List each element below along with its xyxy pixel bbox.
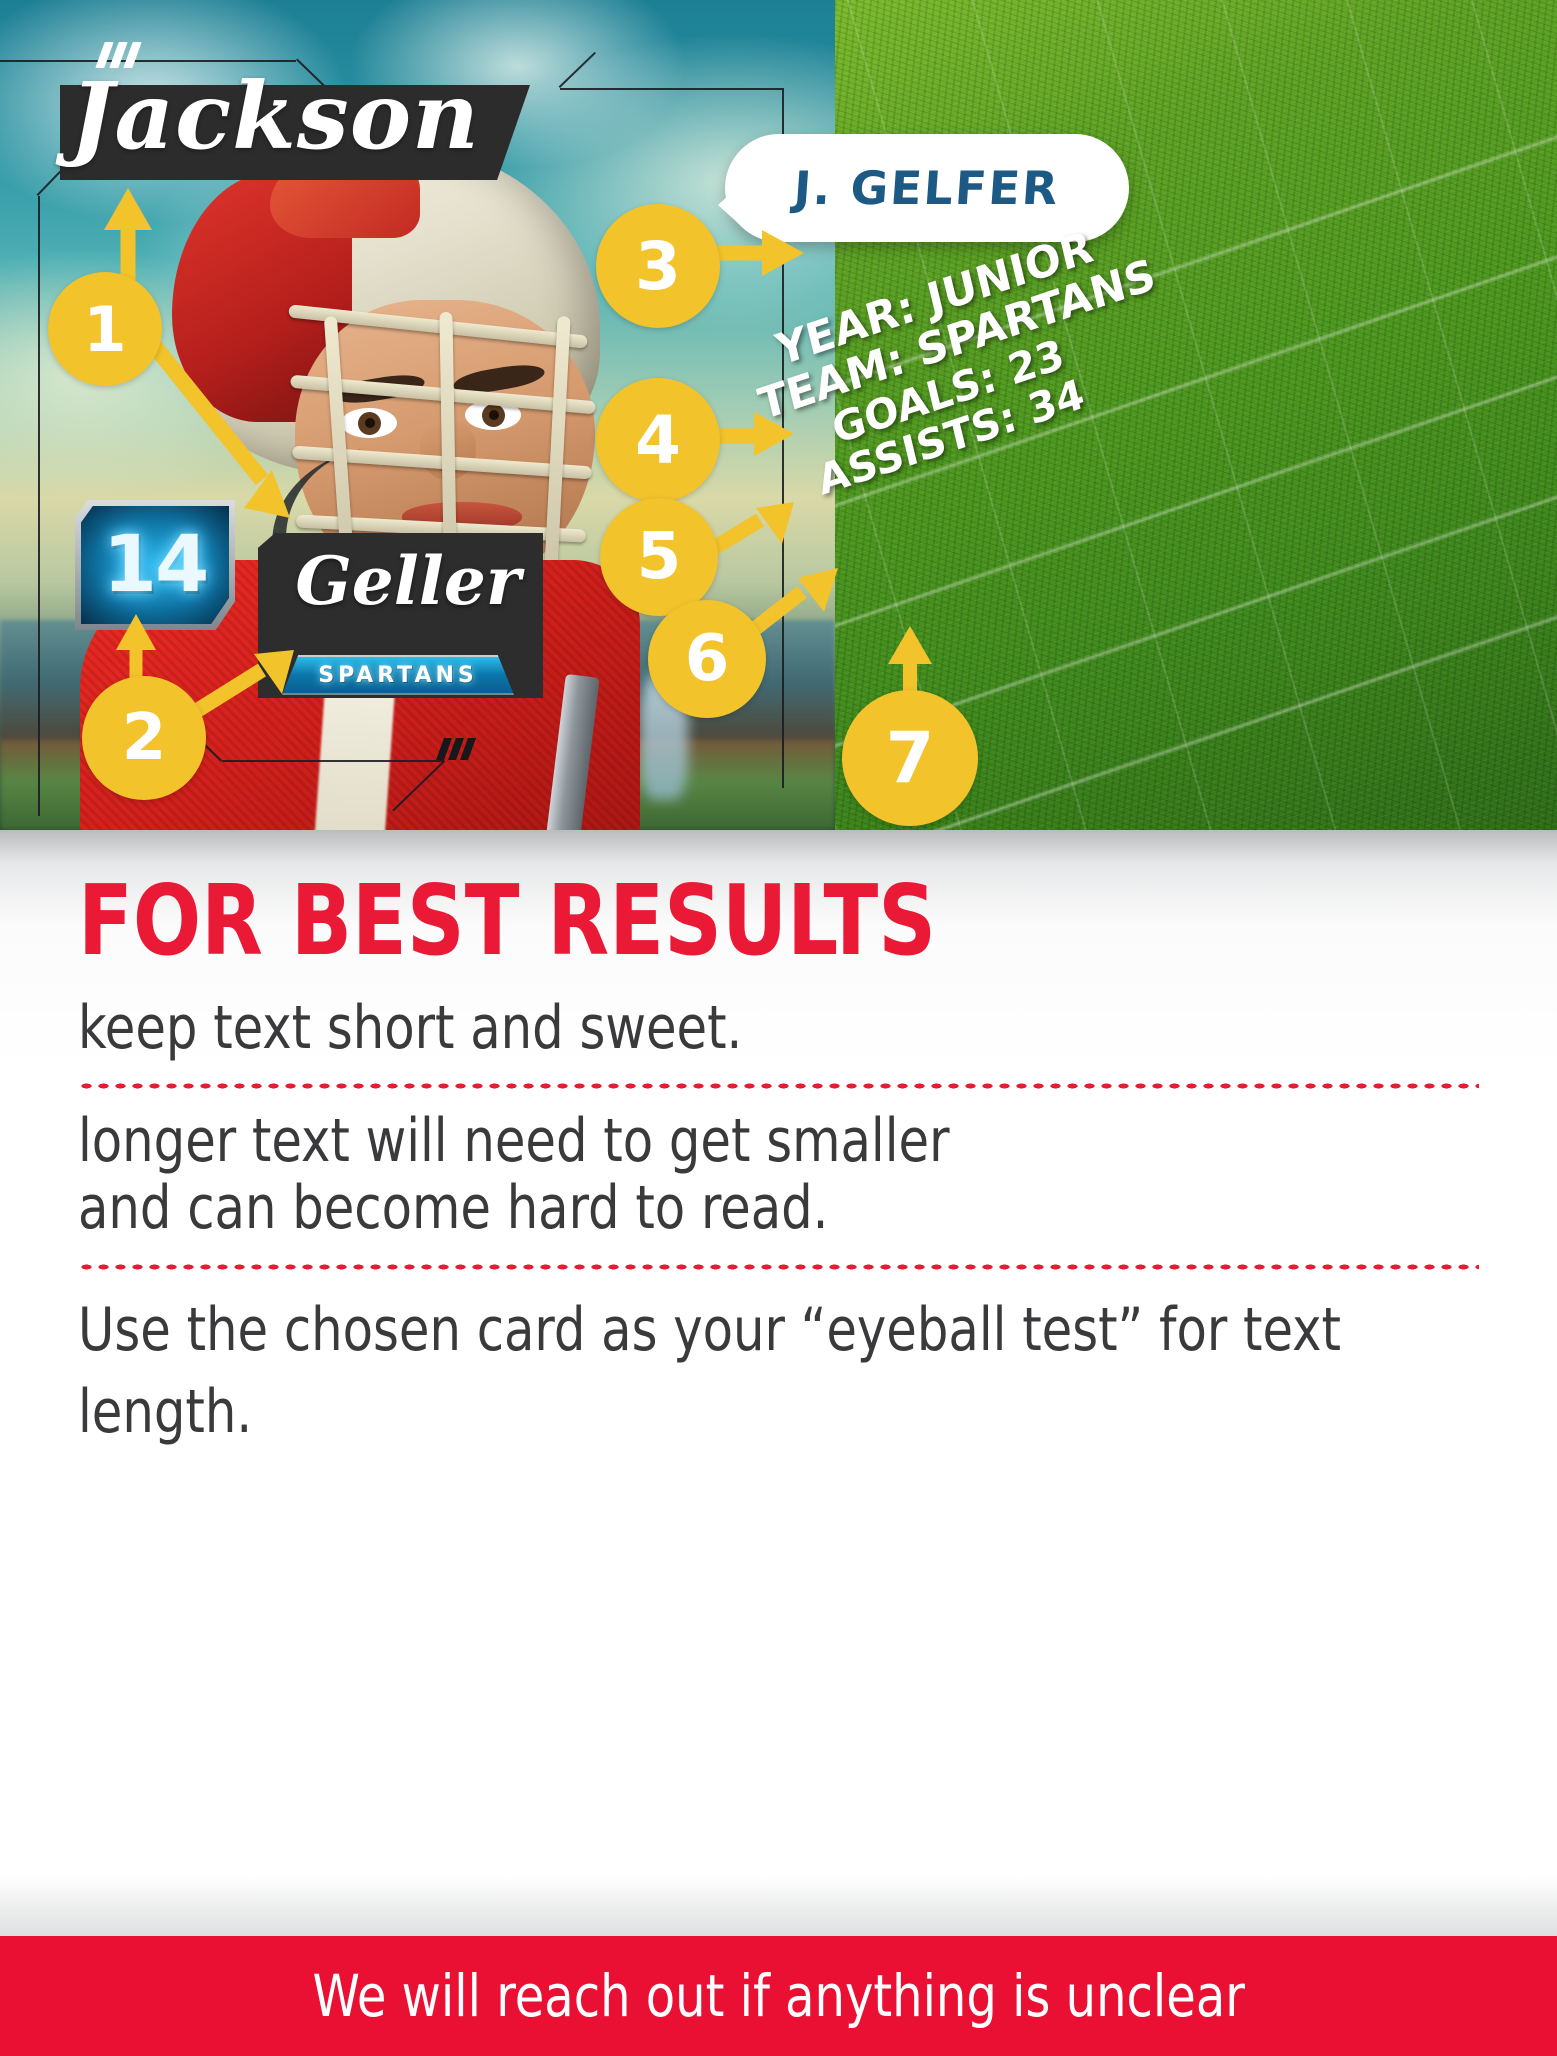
team-banner-text: SPARTANS [318,663,478,688]
card-frame-line [222,760,444,762]
hero-preview: Jackson 14 Geller SPARTANS [0,0,1557,830]
footer-banner: We will reach out if anything is unclear [0,1936,1557,2056]
instructions-section: FOR BEST RESULTS keep text short and swe… [0,830,1557,2056]
first-name-text: Jackson [70,62,550,170]
footer-fade [0,1876,1557,1936]
footer-message: We will reach out if anything is unclear [312,1962,1244,2030]
last-name-text: Geller [278,542,538,620]
callout-marker-2[interactable]: 2 [82,676,206,800]
callout-marker-5[interactable]: 5 [600,498,718,616]
callout-marker-1[interactable]: 1 [48,272,162,386]
callout-marker-label: 6 [685,622,730,696]
callout-marker-label: 3 [635,228,681,305]
callout-arrow-1-down [140,330,320,530]
dotted-divider [78,1082,1479,1090]
callout-marker-label: 5 [637,520,682,594]
instruction-paragraph-3: Use the chosen card as your “eyeball tes… [78,1289,1367,1455]
callout-marker-4[interactable]: 4 [596,378,720,502]
dotted-divider [78,1263,1479,1271]
eye-left [341,408,397,438]
callout-marker-7[interactable]: 7 [842,690,978,826]
callout-marker-label: 2 [122,701,167,775]
footer-wrap: We will reach out if anything is unclear [0,1876,1557,2056]
callout-marker-3[interactable]: 3 [596,204,720,328]
instructions-heading: FOR BEST RESULTS [78,830,1367,969]
player-name-pill: J. GELFER [725,134,1129,242]
card-frame-line [38,196,40,816]
slash-accent-icon [440,738,476,765]
callout-marker-label: 4 [635,402,681,479]
name-pill-notch [718,185,740,225]
instruction-paragraph-2-line-2: and can become hard to read. [78,1175,1367,1242]
instruction-paragraph-2-line-1: longer text will need to get smaller [78,1108,1367,1175]
instruction-paragraph-1: keep text short and sweet. [78,995,1367,1062]
card-frame-line [560,88,782,90]
callout-arrow-6 [746,564,846,644]
jersey-number-text: 14 [103,520,208,610]
card-frame-diagonal [559,52,596,88]
instruction-paragraph-2: longer text will need to get smaller and… [78,1108,1479,1242]
team-banner: SPARTANS [282,655,514,695]
player-name-pill-text: J. GELFER [792,161,1061,215]
callout-marker-label: 7 [886,717,935,799]
callout-marker-label: 1 [83,293,126,366]
instruction-sheet: Jackson 14 Geller SPARTANS [0,0,1557,2056]
callout-marker-6[interactable]: 6 [648,600,766,718]
